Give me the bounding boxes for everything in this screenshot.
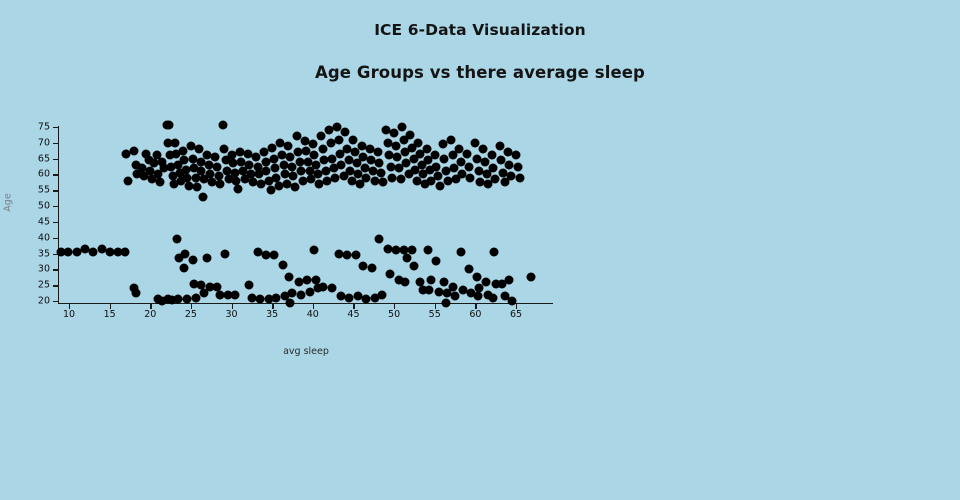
- scatter-point: [527, 273, 536, 282]
- scatter-point: [410, 262, 419, 271]
- scatter-point: [448, 282, 457, 291]
- scatter-point: [513, 162, 522, 171]
- scatter-point: [424, 246, 433, 255]
- scatter-point: [349, 135, 358, 144]
- scatter-point: [199, 192, 208, 201]
- scatter-point: [284, 141, 293, 150]
- scatter-point: [130, 146, 139, 155]
- scatter-point: [341, 127, 350, 136]
- scatter-point: [219, 121, 228, 130]
- scatter-point: [446, 135, 455, 144]
- y-tick-mark: [53, 127, 58, 128]
- scatter-point: [464, 265, 473, 274]
- y-tick-mark: [53, 190, 58, 191]
- scatter-point: [377, 168, 386, 177]
- scatter-point: [345, 293, 354, 302]
- y-tick-label: 65: [20, 153, 50, 164]
- scatter-point: [342, 251, 351, 260]
- scatter-point: [473, 292, 482, 301]
- y-tick-mark: [53, 238, 58, 239]
- scatter-point: [286, 298, 295, 307]
- scatter-point: [507, 297, 516, 306]
- scatter-point: [221, 249, 230, 258]
- scatter-point: [334, 135, 343, 144]
- scatter-point: [245, 281, 254, 290]
- scatter-point: [330, 173, 339, 182]
- scatter-point: [123, 176, 132, 185]
- scatter-point: [442, 298, 451, 307]
- scatter-point: [97, 244, 106, 253]
- scatter-point: [180, 263, 189, 272]
- scatter-point: [88, 247, 97, 256]
- scatter-point: [182, 295, 191, 304]
- y-tick-mark: [53, 285, 58, 286]
- y-tick-label: 75: [20, 122, 50, 133]
- scatter-point: [377, 290, 386, 299]
- x-axis-label: avg sleep: [0, 346, 612, 357]
- x-tick-label: 15: [104, 309, 116, 320]
- scatter-point: [173, 295, 182, 304]
- scatter-point: [310, 246, 319, 255]
- scatter-point: [390, 129, 399, 138]
- x-tick-label: 50: [388, 309, 400, 320]
- scatter-point: [203, 254, 212, 263]
- y-tick-label: 40: [20, 232, 50, 243]
- scatter-point: [456, 247, 465, 256]
- y-tick-mark: [53, 143, 58, 144]
- scatter-point: [403, 254, 412, 263]
- scatter-point: [451, 292, 460, 301]
- scatter-point: [490, 247, 499, 256]
- scatter-point: [489, 164, 498, 173]
- scatter-point: [489, 293, 498, 302]
- x-tick-label: 45: [347, 309, 359, 320]
- scatter-point: [253, 247, 262, 256]
- scatter-point: [121, 247, 130, 256]
- scatter-point: [430, 151, 439, 160]
- scatter-point: [132, 289, 141, 298]
- scatter-point: [296, 167, 305, 176]
- scatter-point: [495, 141, 504, 150]
- scatter-point: [407, 246, 416, 255]
- y-tick-label: 35: [20, 248, 50, 259]
- y-axis-line: [58, 126, 59, 304]
- scatter-point: [463, 149, 472, 158]
- scatter-point: [262, 167, 271, 176]
- scatter-point: [255, 295, 264, 304]
- y-tick-label: 70: [20, 137, 50, 148]
- scatter-point: [426, 276, 435, 285]
- scatter-point: [414, 138, 423, 147]
- x-tick-label: 35: [266, 309, 278, 320]
- scatter-point: [466, 173, 475, 182]
- scatter-point: [303, 276, 312, 285]
- scatter-point: [164, 121, 173, 130]
- scatter-point: [432, 257, 441, 266]
- x-tick-label: 30: [225, 309, 237, 320]
- scatter-point: [290, 183, 299, 192]
- y-tick-mark: [53, 206, 58, 207]
- scatter-point: [487, 151, 496, 160]
- scatter-point: [471, 138, 480, 147]
- chart-figure: ICE 6-Data Visualization Age Groups vs t…: [0, 0, 960, 500]
- scatter-point: [391, 141, 400, 150]
- scatter-point: [188, 255, 197, 264]
- x-axis-line: [58, 303, 553, 304]
- scatter-point: [212, 162, 221, 171]
- x-tick-label: 25: [185, 309, 197, 320]
- scatter-point: [318, 145, 327, 154]
- scatter-point: [173, 235, 182, 244]
- y-tick-mark: [53, 159, 58, 160]
- scatter-point: [472, 273, 481, 282]
- x-tick-label: 20: [144, 309, 156, 320]
- scatter-point: [193, 183, 202, 192]
- x-tick-label: 55: [429, 309, 441, 320]
- scatter-point: [361, 295, 370, 304]
- y-tick-label: 50: [20, 201, 50, 212]
- y-tick-mark: [53, 222, 58, 223]
- scatter-point: [507, 172, 516, 181]
- scatter-point: [269, 251, 278, 260]
- scatter-point: [505, 276, 514, 285]
- scatter-point: [422, 145, 431, 154]
- y-tick-mark: [53, 174, 58, 175]
- scatter-point: [425, 285, 434, 294]
- y-axis-label: Age: [3, 181, 14, 225]
- scatter-point: [481, 278, 490, 287]
- scatter-point: [375, 159, 384, 168]
- scatter-point: [479, 145, 488, 154]
- x-tick-label: 65: [510, 309, 522, 320]
- y-tick-mark: [53, 269, 58, 270]
- scatter-point: [375, 235, 384, 244]
- scatter-point: [432, 162, 441, 171]
- scatter-point: [398, 123, 407, 132]
- scatter-point: [351, 251, 360, 260]
- y-tick-mark: [53, 301, 58, 302]
- x-tick-label: 40: [307, 309, 319, 320]
- y-tick-label: 25: [20, 280, 50, 291]
- x-tick-label: 60: [469, 309, 481, 320]
- y-tick-label: 30: [20, 264, 50, 275]
- scatter-point: [490, 175, 499, 184]
- y-tick-label: 45: [20, 216, 50, 227]
- scatter-point: [359, 262, 368, 271]
- scatter-point: [308, 140, 317, 149]
- y-tick-label: 20: [20, 296, 50, 307]
- scatter-point: [401, 278, 410, 287]
- scatter-point: [278, 260, 287, 269]
- scatter-point: [64, 247, 73, 256]
- scatter-point: [327, 284, 336, 293]
- scatter-point: [234, 184, 243, 193]
- scatter-point: [516, 173, 525, 182]
- scatter-point: [211, 153, 220, 162]
- scatter-point: [368, 263, 377, 272]
- scatter-point: [373, 148, 382, 157]
- scatter-point: [378, 178, 387, 187]
- scatter-point: [310, 151, 319, 160]
- scatter-point: [316, 132, 325, 141]
- scatter-point: [464, 162, 473, 171]
- scatter-point: [386, 270, 395, 279]
- scatter-point: [287, 289, 296, 298]
- y-tick-label: 60: [20, 169, 50, 180]
- scatter-point: [406, 130, 415, 139]
- scatter-point: [272, 293, 281, 302]
- y-tick-label: 55: [20, 185, 50, 196]
- scatter-point: [156, 178, 165, 187]
- scatter-point: [512, 151, 521, 160]
- scatter-point: [170, 138, 179, 147]
- scatter-point: [285, 273, 294, 282]
- x-tick-label: 10: [63, 309, 75, 320]
- scatter-point: [195, 145, 204, 154]
- scatter-plot-area: 202530354045505560657075 101520253035404…: [0, 0, 960, 500]
- scatter-point: [230, 290, 239, 299]
- scatter-point: [216, 179, 225, 188]
